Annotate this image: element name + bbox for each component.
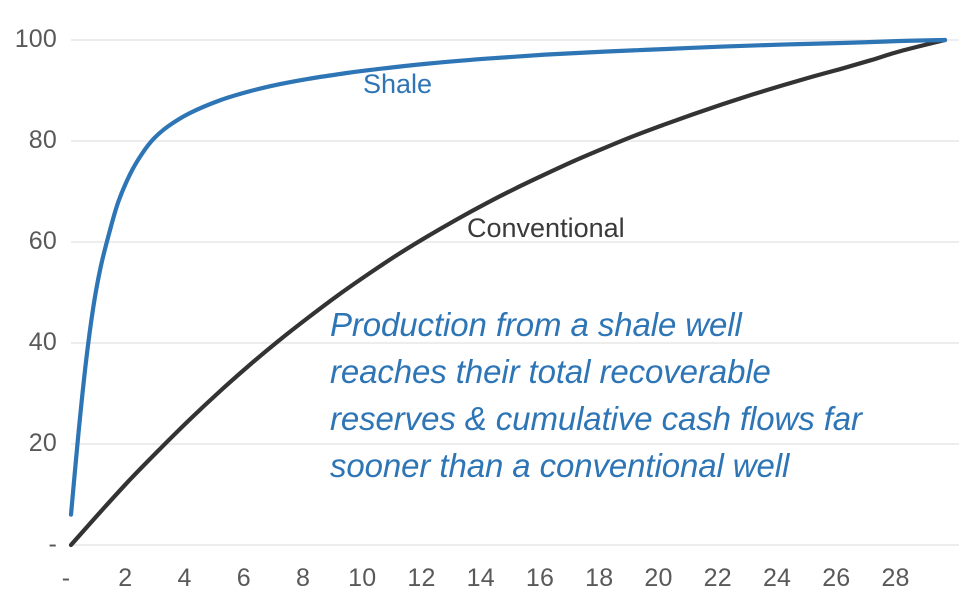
x-axis-tick-5: 10: [332, 566, 392, 591]
y-axis-tick-1: 80: [0, 128, 57, 153]
y-axis-tick-0: 100: [0, 27, 57, 52]
x-axis-tick-12: 24: [747, 566, 807, 591]
annotation-line-4: sooner than a conventional well: [330, 442, 942, 489]
y-axis-tick-3: 40: [0, 330, 57, 355]
x-axis-tick-7: 14: [451, 566, 511, 591]
annotation-line-3: reserves & cumulative cash flows far: [330, 395, 942, 442]
y-axis-tick-5: -: [0, 532, 57, 557]
series-label-conventional: Conventional: [467, 215, 625, 242]
y-axis-tick-2: 60: [0, 229, 57, 254]
chart-annotation-text: Production from a shale wellreaches thei…: [330, 301, 942, 489]
annotation-line-1: Production from a shale well: [330, 301, 942, 348]
series-label-shale: Shale: [363, 71, 432, 98]
x-axis-tick-8: 16: [510, 566, 570, 591]
x-axis-tick-13: 26: [806, 566, 866, 591]
x-axis-tick-3: 6: [214, 566, 274, 591]
x-axis-tick-11: 22: [688, 566, 748, 591]
x-axis-tick-14: 28: [866, 566, 926, 591]
x-axis-tick-6: 12: [392, 566, 452, 591]
x-axis-tick-2: 4: [155, 566, 215, 591]
x-axis-tick-9: 18: [569, 566, 629, 591]
x-axis-tick-4: 8: [273, 566, 333, 591]
annotation-line-2: reaches their total recoverable: [330, 348, 942, 395]
x-axis-tick-0: -: [36, 566, 96, 591]
x-axis-tick-1: 2: [95, 566, 155, 591]
x-axis-tick-10: 20: [629, 566, 689, 591]
y-axis-tick-4: 20: [0, 431, 57, 456]
chart-container: 10080604020- -246810121416182022242628 S…: [0, 0, 959, 611]
